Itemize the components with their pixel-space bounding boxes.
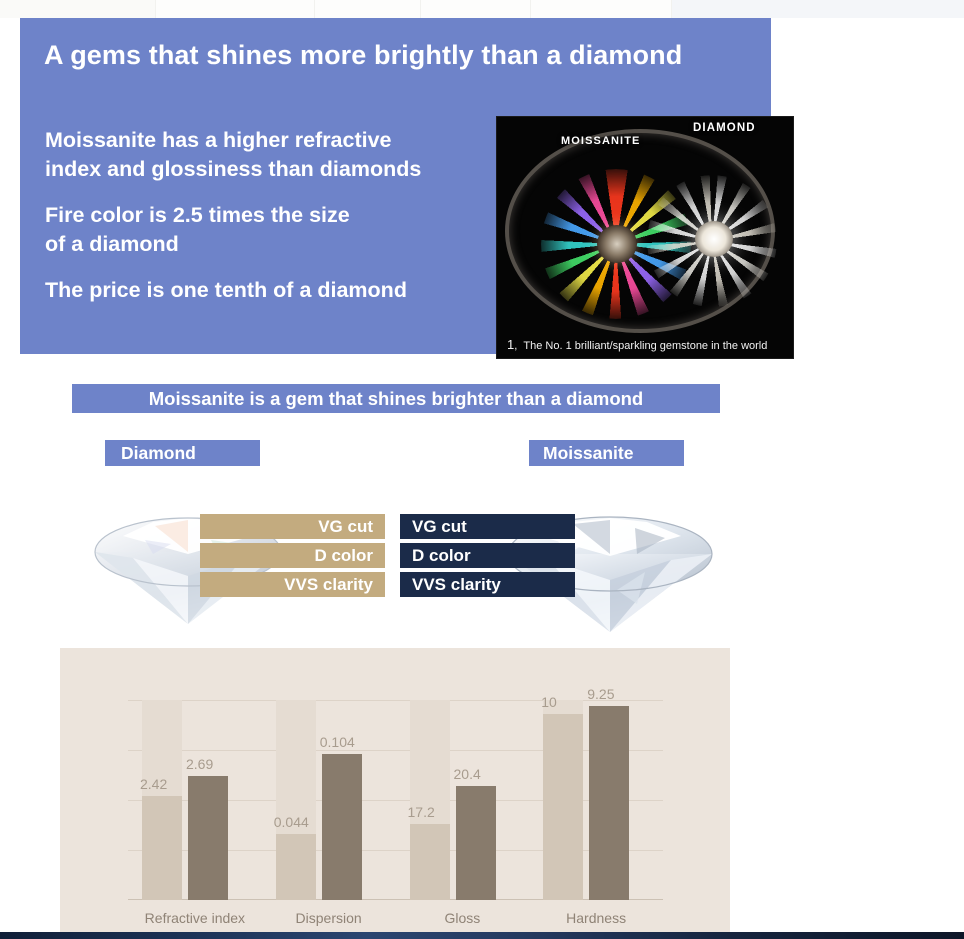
chart-group-gloss: 17.220.4 [410, 700, 496, 900]
diamond-stone-core [695, 221, 733, 257]
chart-value-diamond-2: 0.044 [274, 814, 309, 830]
chart-bar-diamond-3 [410, 824, 450, 900]
product-description-slide: A gems that shines more brightly than a … [0, 18, 771, 939]
photo-caption: 1, The No. 1 brilliant/sparkling gemston… [497, 337, 793, 352]
compare-heading-diamond-label: Diamond [121, 443, 196, 464]
top-strip-cell-5 [531, 0, 672, 18]
hero-paragraph-3-line-1: The price is one tenth of a diamond [45, 278, 407, 302]
moissanite-gem-block: VG cut D color VVS clarity [400, 488, 720, 638]
gemstone-sparkle-photo: MOISSANITE DIAMOND 1, The No. 1 brillian… [496, 116, 794, 359]
photo-label-diamond: DIAMOND [693, 122, 756, 134]
chart-bar-moissanite-4 [589, 706, 629, 900]
moissanite-spec-cut: VG cut [400, 514, 575, 539]
top-strip-cell-2 [156, 0, 315, 18]
top-strip-cell-6 [672, 0, 964, 18]
chart-plot-area: 2.422.690.0440.10417.220.4109.25 [128, 700, 663, 900]
moissanite-stone-core [597, 225, 637, 263]
hero-paragraph-2-line-1: Fire color is 2.5 times the size [45, 203, 350, 227]
chart-group-refractive-index: 2.422.69 [142, 700, 228, 900]
photo-stage: MOISSANITE DIAMOND [497, 117, 793, 358]
chart-category-label-4: Hardness [529, 910, 663, 926]
chart-value-moissanite-3: 20.4 [454, 766, 481, 782]
browser-top-strip [0, 0, 964, 18]
photo-label-moissanite: MOISSANITE [561, 135, 640, 147]
chart-bar-diamond-1 [142, 796, 182, 900]
chart-category-axis: Refractive indexDispersionGlossHardness [128, 910, 663, 932]
moissanite-spec-color: D color [400, 543, 575, 568]
section-subtitle-banner: Moissanite is a gem that shines brighter… [72, 384, 720, 413]
chart-value-moissanite-4: 9.25 [587, 686, 614, 702]
hero-paragraph-1-line-1: Moissanite has a higher refractive [45, 128, 392, 152]
compare-heading-diamond: Diamond [105, 440, 260, 466]
right-blank-pane [771, 18, 964, 939]
chart-value-diamond-4: 10 [541, 694, 557, 710]
page-title: A gems that shines more brightly than a … [44, 40, 744, 71]
diamond-spec-clarity: VVS clarity [200, 572, 385, 597]
diamond-spec-color: D color [200, 543, 385, 568]
diamond-spec-list: VG cut D color VVS clarity [200, 514, 385, 601]
chart-value-diamond-1: 2.42 [140, 776, 167, 792]
top-strip-cell-1 [0, 0, 156, 18]
chart-value-moissanite-2: 0.104 [320, 734, 355, 750]
top-strip-cell-3 [315, 0, 421, 18]
top-strip-cell-4 [421, 0, 531, 18]
chart-group-dispersion: 0.0440.104 [276, 700, 362, 900]
moissanite-spec-list: VG cut D color VVS clarity [400, 514, 575, 601]
hero-paragraph-2: Fire color is 2.5 times the size of a di… [45, 201, 465, 259]
property-comparison-chart: 2.422.690.0440.10417.220.4109.25 Refract… [60, 648, 730, 939]
hero-paragraph-1: Moissanite has a higher refractive index… [45, 126, 465, 184]
section-subtitle-text: Moissanite is a gem that shines brighter… [149, 388, 643, 410]
hero-bullet-list: Moissanite has a higher refractive index… [45, 126, 465, 305]
chart-category-label-1: Refractive index [128, 910, 262, 926]
moissanite-spec-clarity: VVS clarity [400, 572, 575, 597]
hero-panel: A gems that shines more brightly than a … [20, 18, 771, 354]
hero-paragraph-1-line-2: index and glossiness than diamonds [45, 157, 421, 181]
diamond-gem-block: VG cut D color VVS clarity [85, 488, 385, 638]
chart-inner: 2.422.690.0440.10417.220.4109.25 Refract… [60, 648, 730, 939]
chart-group-hardness: 109.25 [543, 700, 629, 900]
chart-bar-moissanite-2 [322, 754, 362, 900]
photo-caption-text: The No. 1 brilliant/sparkling gemstone i… [523, 340, 767, 352]
chart-value-diamond-3: 17.2 [408, 804, 435, 820]
chart-bar-diamond-2 [276, 834, 316, 900]
chart-value-moissanite-1: 2.69 [186, 756, 213, 772]
chart-category-label-3: Gloss [396, 910, 530, 926]
chart-category-label-2: Dispersion [262, 910, 396, 926]
chart-bar-moissanite-1 [188, 776, 228, 900]
compare-heading-moissanite-label: Moissanite [543, 443, 633, 464]
diamond-spec-cut: VG cut [200, 514, 385, 539]
chart-bar-diamond-4 [543, 714, 583, 900]
chart-bar-moissanite-3 [456, 786, 496, 900]
compare-heading-moissanite: Moissanite [529, 440, 684, 466]
bottom-navy-band [0, 932, 964, 939]
hero-paragraph-3: The price is one tenth of a diamond [45, 276, 465, 305]
hero-paragraph-2-line-2: of a diamond [45, 232, 179, 256]
